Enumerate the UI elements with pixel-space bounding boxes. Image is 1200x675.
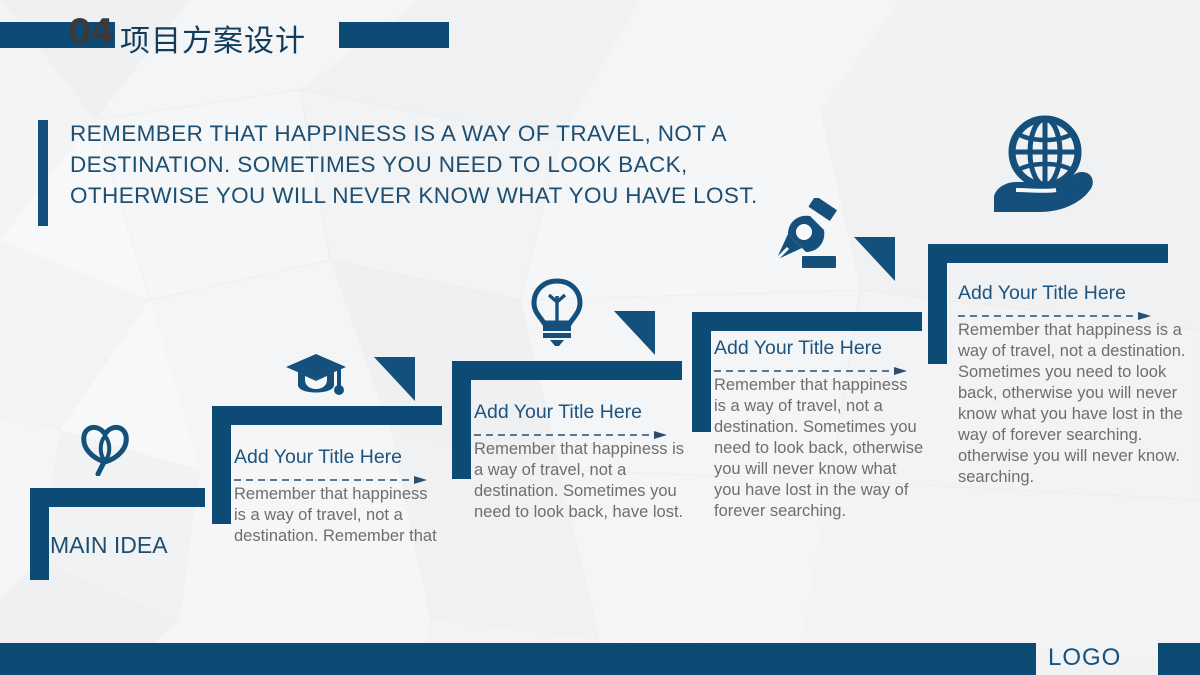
footer-bar-right xyxy=(1158,643,1200,675)
header-accent-bar-right xyxy=(339,22,449,48)
slide-header: 04 项目方案设计 xyxy=(0,14,1200,54)
step-item-3[interactable]: Add Your Title Here Remember that happin… xyxy=(452,278,682,578)
logo-text: LOGO xyxy=(1048,644,1121,672)
step-item-1[interactable]: MAIN IDEA xyxy=(22,420,222,580)
step-title-4: Add Your Title Here xyxy=(714,337,882,360)
step-body-3: Remember that happiness is a way of trav… xyxy=(474,439,686,523)
main-idea-label: MAIN IDEA xyxy=(50,532,168,559)
lightbulb-icon xyxy=(530,278,584,346)
step-body-2: Remember that happiness is a way of trav… xyxy=(234,484,442,547)
footer-bar-left xyxy=(0,643,1036,675)
step-triangle-3 xyxy=(614,311,655,355)
step-triangle-2 xyxy=(374,357,415,401)
step-item-4[interactable]: Add Your Title Here Remember that happin… xyxy=(692,198,922,578)
quote-text: REMEMBER THAT HAPPINESS IS A WAY OF TRAV… xyxy=(70,118,770,226)
step-item-2[interactable]: Add Your Title Here Remember that happin… xyxy=(212,350,442,580)
step-title-3: Add Your Title Here xyxy=(474,401,642,424)
step-body-5: Remember that happiness is a way of trav… xyxy=(958,320,1192,488)
slide-footer: LOGO xyxy=(0,643,1200,675)
step-item-5[interactable]: Add Your Title Here Remember that happin… xyxy=(928,112,1190,562)
quote-block: REMEMBER THAT HAPPINESS IS A WAY OF TRAV… xyxy=(38,118,770,226)
section-number: 04 xyxy=(68,12,113,52)
graduation-cap-icon xyxy=(285,352,347,402)
quote-accent-bar xyxy=(38,120,48,226)
leaf-icon xyxy=(78,422,134,476)
section-title: 项目方案设计 xyxy=(120,16,306,60)
globe-in-hand-icon xyxy=(990,112,1100,217)
fountain-pen-icon xyxy=(762,198,840,288)
step-body-4: Remember that happiness is a way of trav… xyxy=(714,375,924,522)
step-title-5: Add Your Title Here xyxy=(958,282,1126,305)
step-triangle-4 xyxy=(854,237,895,281)
step-title-2: Add Your Title Here xyxy=(234,446,402,469)
